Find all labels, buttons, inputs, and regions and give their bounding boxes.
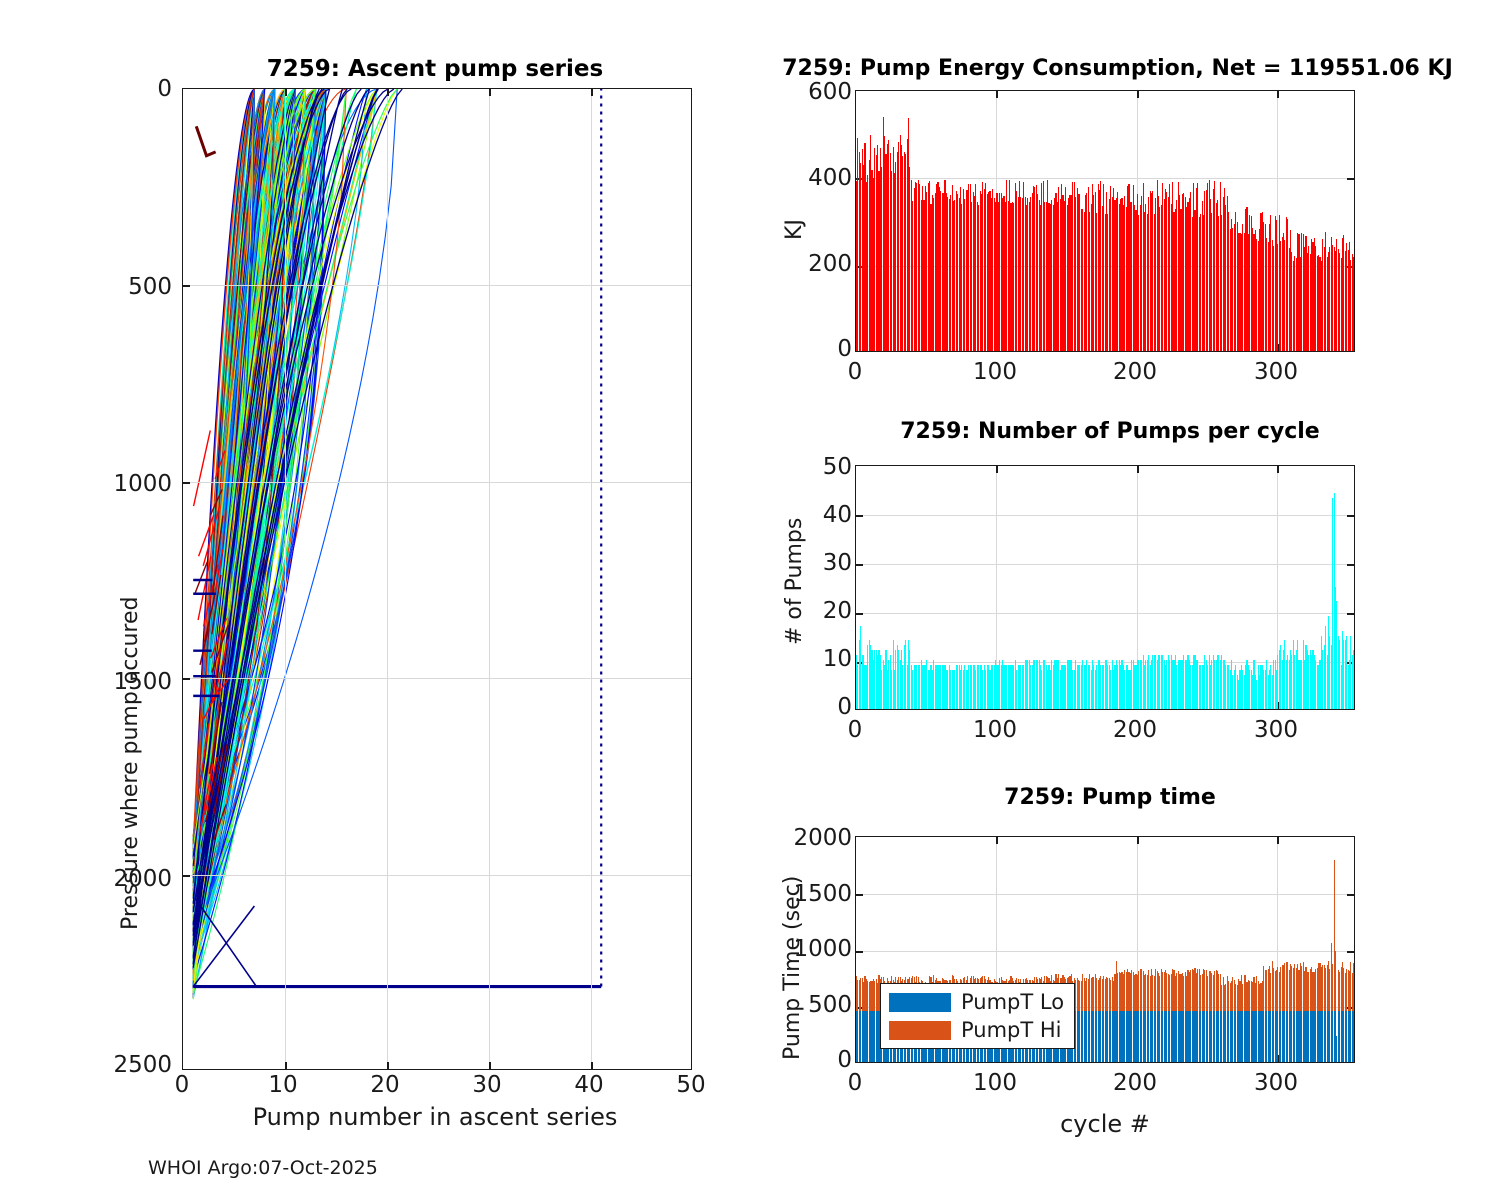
panel-number-of-pumps: 7259: Number of Pumps per cycle # of Pum…: [740, 400, 1500, 770]
pumps-ytick-30: 30: [790, 550, 852, 576]
ascent-tickmark-y1500: [183, 678, 190, 680]
energy-ytick-200: 200: [790, 251, 852, 277]
ascent-gridline-x20: [387, 89, 388, 1069]
ascent-gridline-x10: [285, 89, 286, 1069]
ascent-xtick-40: 40: [559, 1072, 619, 1098]
pumptime-xtick-300: 300: [1246, 1070, 1306, 1096]
legend-row-pumpt-lo: PumpT Lo: [889, 990, 1064, 1014]
panel-ascent-pump-series: 7259: Ascent pump series Pressure where …: [0, 0, 740, 1200]
pumps-y-axis-label: # of Pumps: [782, 518, 807, 645]
ascent-tickmark-x30: [489, 1062, 491, 1069]
ascent-ytick-2000: 2000: [100, 866, 172, 892]
ascent-gridline-y2000: [183, 875, 691, 876]
energy-panel-title: 7259: Pump Energy Consumption, Net = 119…: [740, 56, 1495, 81]
energy-xtick-100: 100: [965, 359, 1025, 385]
pumptime-ytick-1000: 1000: [790, 936, 852, 962]
ascent-tickmark-x10-top: [285, 89, 287, 96]
panel-pump-energy: 7259: Pump Energy Consumption, Net = 119…: [740, 0, 1500, 400]
ascent-ytick-500: 500: [100, 274, 172, 300]
ascent-gridline-x30: [489, 89, 490, 1069]
pumps-ytick-10: 10: [790, 646, 852, 672]
energy-xtick-200: 200: [1105, 359, 1165, 385]
pumps-ytick-40: 40: [790, 502, 852, 528]
ascent-tickmark-y500: [183, 285, 190, 287]
ascent-tickmark-x40-top: [591, 89, 593, 96]
ascent-tickmark-x20-top: [387, 89, 389, 96]
ascent-tickmark-y2000: [183, 875, 190, 877]
pumps-plot-area: [855, 465, 1355, 710]
panel-pump-time: 7259: Pump time Pump Time (sec) cycle # …: [740, 770, 1500, 1200]
pumps-xtick-0: 0: [825, 717, 885, 743]
pumps-ytick-50: 50: [790, 454, 852, 480]
legend-swatch-pumpt-hi: [889, 1021, 951, 1040]
ascent-plot-area: [182, 88, 692, 1070]
pumps-xtick-200: 200: [1105, 717, 1165, 743]
ascent-gridline-y500: [183, 285, 691, 286]
pumptime-xtick-200: 200: [1105, 1070, 1165, 1096]
legend-label-pumpt-lo: PumpT Lo: [961, 990, 1064, 1014]
ascent-xtick-50: 50: [661, 1072, 721, 1098]
ascent-tickmark-y1000: [183, 482, 190, 484]
ascent-tickmark-x10: [285, 1062, 287, 1069]
pumptime-panel-title: 7259: Pump time: [740, 785, 1480, 810]
pumptime-bar: [1335, 951, 1336, 1011]
energy-xtick-0: 0: [825, 359, 885, 385]
pumps-ytick-20: 20: [790, 598, 852, 624]
legend-label-pumpt-hi: PumpT Hi: [961, 1018, 1062, 1042]
energy-ytick-400: 400: [790, 165, 852, 191]
pumptime-x-axis-label: cycle #: [855, 1110, 1355, 1138]
ascent-gridline-y1500: [183, 678, 691, 679]
energy-plot-area: [855, 90, 1355, 352]
pumptime-xtick-0: 0: [825, 1070, 885, 1096]
ascent-ytick-0: 0: [100, 76, 172, 102]
pumptime-legend: PumpT Lo PumpT Hi: [880, 983, 1075, 1049]
pumps-panel-title: 7259: Number of Pumps per cycle: [740, 419, 1480, 444]
legend-swatch-pumpt-lo: [889, 993, 951, 1012]
ascent-panel-title: 7259: Ascent pump series: [180, 56, 690, 82]
energy-bar-series: [856, 91, 1354, 351]
ascent-trace: [196, 126, 215, 155]
pumptime-ytick-1500: 1500: [790, 881, 852, 907]
energy-xtick-300: 300: [1246, 359, 1306, 385]
ascent-xtick-10: 10: [253, 1072, 313, 1098]
ascent-xtick-0: 0: [152, 1072, 212, 1098]
pumptime-ytick-500: 500: [790, 992, 852, 1018]
pumps-xtick-100: 100: [965, 717, 1025, 743]
ascent-xtick-20: 20: [355, 1072, 415, 1098]
pumptime-xtick-100: 100: [965, 1070, 1025, 1096]
ascent-tickmark-x40: [591, 1062, 593, 1069]
ascent-xtick-30: 30: [457, 1072, 517, 1098]
ascent-trace: [194, 430, 211, 506]
figure-footer: WHOI Argo:07-Oct-2025: [148, 1157, 378, 1179]
energy-ytick-600: 600: [790, 79, 852, 105]
ascent-x-axis-label: Pump number in ascent series: [180, 1103, 690, 1131]
pumptime-plot-area: PumpT Lo PumpT Hi: [855, 836, 1355, 1063]
pumps-bar-series: [856, 466, 1354, 709]
figure-canvas: 7259: Ascent pump series Pressure where …: [0, 0, 1500, 1200]
ascent-ytick-1000: 1000: [100, 471, 172, 497]
ascent-gridline-y1000: [183, 482, 691, 483]
ascent-gridline-x40: [591, 89, 592, 1069]
pumptime-ytick-2000: 2000: [790, 825, 852, 851]
legend-row-pumpt-hi: PumpT Hi: [889, 1018, 1064, 1042]
ascent-trace: [195, 562, 208, 594]
ascent-ytick-1500: 1500: [100, 669, 172, 695]
ascent-tickmark-x30-top: [489, 89, 491, 96]
ascent-tickmark-x20: [387, 1062, 389, 1069]
energy-y-axis-label: KJ: [782, 219, 807, 240]
ascent-profile-traces: [183, 89, 692, 1070]
pumps-xtick-300: 300: [1246, 717, 1306, 743]
